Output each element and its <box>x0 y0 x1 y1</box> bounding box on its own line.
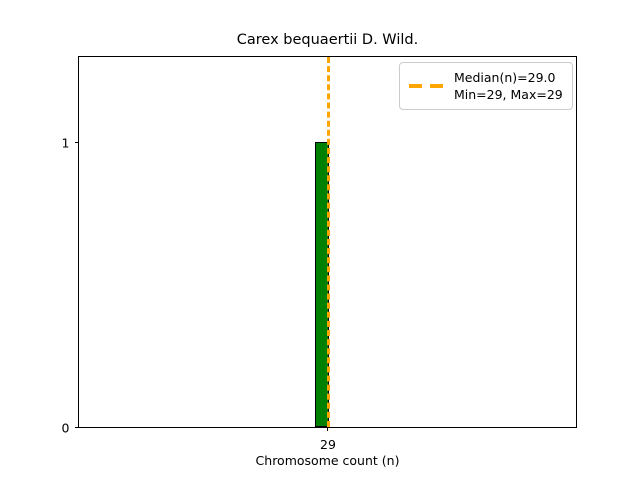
chart-legend: Median(n)=29.0 Min=29, Max=29 <box>399 62 573 110</box>
legend-median-label: Median(n)=29.0 <box>454 69 563 86</box>
legend-entry-text: Median(n)=29.0 Min=29, Max=29 <box>454 69 563 103</box>
legend-entry-median: Median(n)=29.0 Min=29, Max=29 <box>408 69 563 103</box>
dashed-line-marker-icon <box>408 80 445 92</box>
ytick-label-0: 0 <box>61 422 69 435</box>
x-axis-label: Chromosome count (n) <box>78 453 577 468</box>
y-axis-label-line2: (Total 1) <box>97 0 112 86</box>
xtick-label-29: 29 <box>320 438 336 452</box>
y-axis-label: Num of counts (Total 1) <box>22 0 52 86</box>
legend-range-label: Min=29, Max=29 <box>454 86 563 103</box>
median-line <box>327 57 330 427</box>
chart-figure: Carex bequaertii D. Wild. 0 1 29 Median(… <box>0 0 640 480</box>
xtick-mark-29: 29 <box>327 427 328 431</box>
y-axis-label-line1: Num of counts <box>52 0 67 86</box>
ytick-label-1: 1 <box>61 137 69 150</box>
chart-title: Carex bequaertii D. Wild. <box>78 31 577 49</box>
plot-area: 0 1 29 Median(n)=29.0 Min=29, Max=29 <box>78 56 577 428</box>
ytick-mark-0: 0 <box>75 427 79 428</box>
